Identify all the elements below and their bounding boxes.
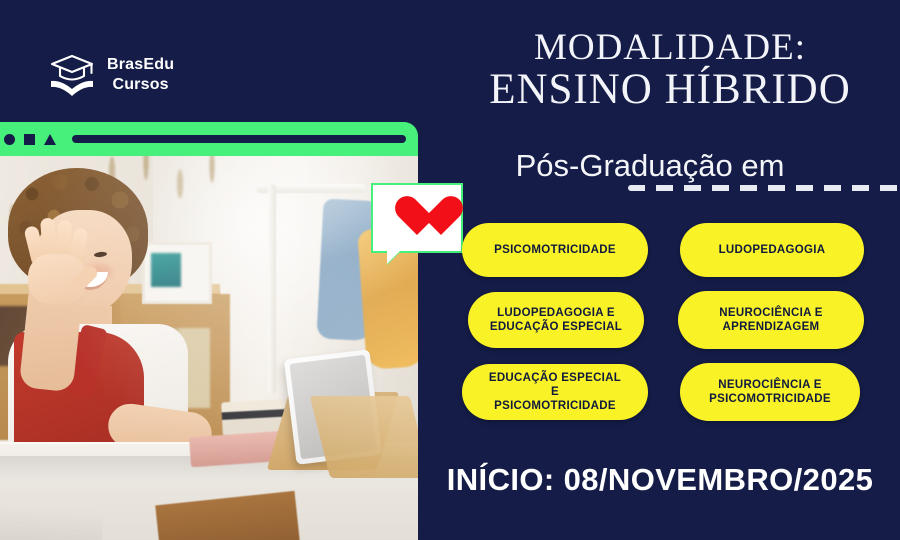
dashed-divider [628,185,900,191]
course-pill-neurociencia-aprendizagem[interactable]: NEUROCIÊNCIA E APRENDIZAGEM [678,291,864,349]
course-pill-ludopedagogia-educacao-especial[interactable]: LUDOPEDAGOGIA E EDUCAÇÃO ESPECIAL [468,292,644,348]
clothes-rack-pole [268,184,276,394]
brand-name-line2: Cursos [112,76,168,93]
start-date: INÍCIO: 08/NOVEMBRO/2025 [440,462,880,498]
waving-hand [20,218,92,302]
browser-toolbar [0,122,418,156]
browser-control-icons [4,134,56,145]
course-pill-neurociencia-psicomotricidade[interactable]: NEUROCIÊNCIA E PSICOMOTRICIDADE [680,363,860,421]
brand-name: BrasEdu Cursos [107,55,174,94]
circle-icon[interactable] [4,134,15,145]
brand-name-line1: BrasEdu [107,56,174,73]
course-pill-ludopedagogia[interactable]: LUDOPEDAGOGIA [680,223,864,277]
brand-logo: BrasEdu Cursos [48,52,174,98]
course-list: PSICOMOTRICIDADE LUDOPEDAGOGIA LUDOPEDAG… [462,223,866,421]
square-icon[interactable] [24,134,35,145]
graduation-cap-book-icon [48,52,96,98]
photo-scene [0,156,418,540]
page-title: MODALIDADE: ENSINO HÍBRIDO [440,28,900,113]
desk-tray [0,505,103,540]
title-line-2: ENSINO HÍBRIDO [440,67,900,113]
title-line-1: MODALIDADE: [440,28,900,67]
course-pill-psicomotricidade[interactable]: PSICOMOTRICIDADE [462,223,648,277]
student-photo [0,156,418,540]
heart-speech-bubble [371,183,463,253]
triangle-icon[interactable] [44,134,56,145]
subtitle: Pós-Graduação em [440,148,860,184]
bubble-tail [387,251,408,264]
address-bar[interactable] [72,135,406,143]
heart-icon [394,197,440,239]
course-pill-educacao-especial-psicomotricidade[interactable]: EDUCAÇÃO ESPECIAL E PSICOMOTRICIDADE [462,364,648,420]
browser-window-mock [0,122,418,540]
